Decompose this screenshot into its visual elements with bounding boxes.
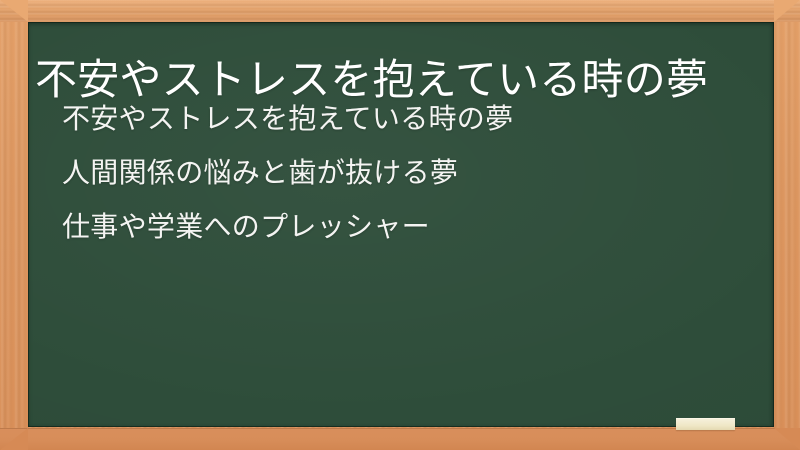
frame-corner-top-right (774, 0, 800, 22)
frame-corner-bottom-right (774, 428, 800, 450)
chalkboard-surface: 不安やストレスを抱えている時の夢 不安やストレスを抱えている時の夢 人間関係の悩… (28, 22, 774, 427)
frame-rail-bottom-ledge (0, 428, 800, 450)
slide-outline-list: 不安やストレスを抱えている時の夢 人間関係の悩みと歯が抜ける夢 仕事や学業へのプ… (62, 105, 722, 241)
frame-corner-bottom-left (0, 428, 28, 450)
frame-rail-top (0, 0, 800, 22)
list-item: 不安やストレスを抱えている時の夢 (62, 105, 722, 133)
list-item: 仕事や学業へのプレッシャー (62, 213, 722, 241)
slide-title: 不安やストレスを抱えている時の夢 (35, 56, 735, 103)
chalk-eraser-icon (676, 418, 735, 430)
slide-canvas: 不安やストレスを抱えている時の夢 不安やストレスを抱えている時の夢 人間関係の悩… (0, 0, 800, 450)
list-item: 人間関係の悩みと歯が抜ける夢 (62, 159, 722, 187)
frame-corner-top-left (0, 0, 28, 22)
